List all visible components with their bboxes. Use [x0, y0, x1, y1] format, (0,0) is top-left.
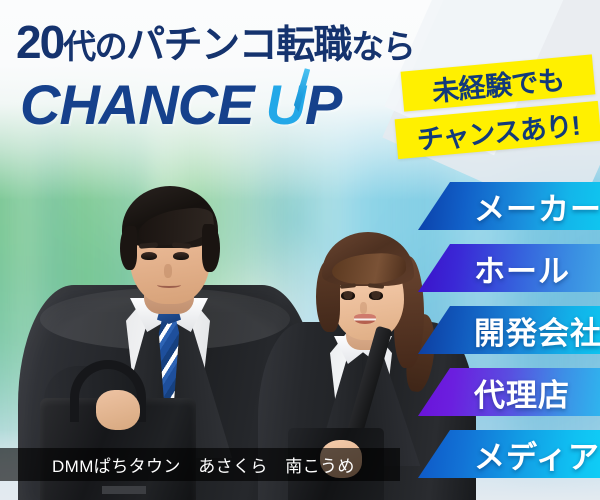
category-label: メーカー [474, 184, 600, 229]
kicker-main: パチンコ転職 [126, 24, 351, 67]
category-bar-agency[interactable]: 代理店 [418, 368, 600, 416]
woman-mouth [354, 314, 376, 324]
man-nose [164, 264, 172, 278]
woman-nose [360, 302, 367, 314]
man-hair-side-right [202, 224, 220, 272]
chance-up-logo: CHANCE UP [20, 72, 341, 137]
logo-letter-p: P [305, 73, 341, 136]
man-mouth [157, 282, 181, 288]
category-label: 開発会社 [474, 308, 600, 353]
logo-word-up: UP [266, 72, 342, 137]
credit-bar: DMMぱちタウン あさくら 南こうめ [0, 448, 400, 481]
woman-eye-right [369, 291, 383, 300]
category-bar-media[interactable]: メディア [418, 430, 600, 478]
man-eye-left [141, 252, 157, 260]
category-label: メディア [474, 432, 600, 477]
ad-banner[interactable]: 20代のパチンコ転職なら CHANCE UP 未経験でも チャンスあり! メーカ… [0, 0, 600, 500]
man-briefcase-studs [102, 486, 146, 494]
category-bar-maker[interactable]: メーカー [418, 182, 600, 230]
category-bar-development-company[interactable]: 開発会社 [418, 306, 600, 354]
category-bar-hall[interactable]: ホール [418, 244, 600, 292]
credit-text: DMMぱちタウン あさくら 南こうめ [52, 452, 355, 477]
man-hair-side-left [120, 226, 137, 270]
category-label: ホール [474, 246, 570, 291]
woman-eye-left [341, 291, 355, 300]
kicker-mid: 代の [63, 28, 126, 65]
category-label: 代理店 [474, 370, 570, 415]
kicker-headline: 20代のパチンコ転職なら [16, 14, 414, 70]
logo-word-chance: CHANCE [20, 73, 254, 136]
logo-letter-u: U [266, 72, 305, 137]
kicker-number: 20 [16, 16, 63, 68]
man-hand [96, 390, 140, 430]
kicker-tail: なら [351, 28, 414, 65]
man-eye-right [173, 252, 189, 260]
